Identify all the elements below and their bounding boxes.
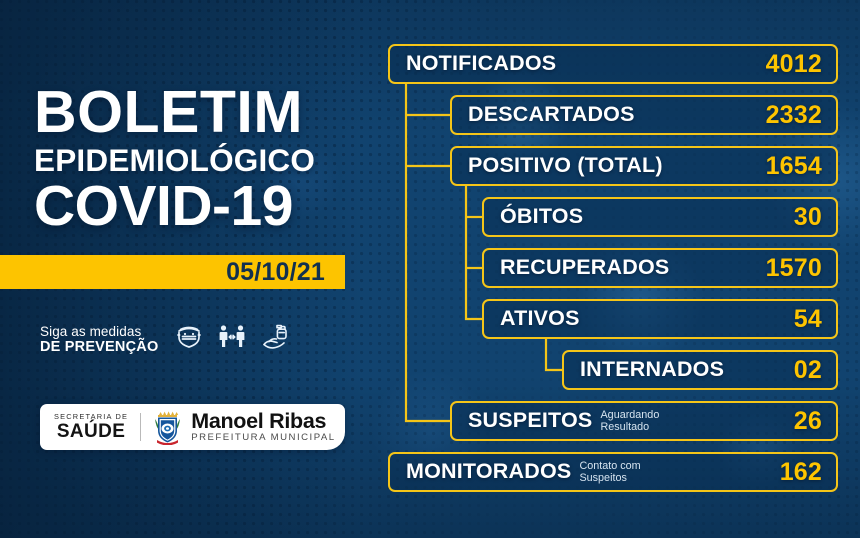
city-name: Manoel Ribas (191, 411, 335, 433)
title-covid19: COVID-19 (34, 178, 354, 235)
stat-value: 54 (794, 307, 822, 332)
stat-label: RECUPERADOS (500, 257, 669, 279)
stat-label: ATIVOS (500, 308, 580, 330)
logo-divider (140, 413, 141, 441)
stat-label: ÓBITOS (500, 206, 583, 228)
prevention-line2: DE PREVENÇÃO (40, 339, 158, 355)
stat-row-positivo-total: POSITIVO (TOTAL)1654 (450, 146, 838, 186)
poster-title-block: BOLETIM EPIDEMIOLÓGICO COVID-19 (34, 84, 354, 235)
stat-value: 4012 (766, 52, 822, 77)
stat-value: 2332 (766, 103, 822, 128)
stat-value: 02 (794, 358, 822, 383)
prevention-line1: Siga as medidas (40, 324, 158, 339)
city-logo-text: Manoel Ribas PREFEITURA MUNICIPAL (191, 411, 335, 443)
stat-value: 30 (794, 205, 822, 230)
stat-row-descartados: DESCARTADOS2332 (450, 95, 838, 135)
social-distancing-icon (215, 320, 249, 359)
face-mask-icon (172, 320, 206, 359)
secretaria-label: SECRETARIA DE (54, 413, 128, 420)
stat-label: SUSPEITOS (468, 410, 592, 432)
stat-row-internados: INTERNADOS02 (562, 350, 838, 390)
hand-sanitizer-icon (258, 320, 292, 359)
institutional-logo-bar: SECRETARIA DE SAÚDE (40, 404, 345, 450)
stat-label: DESCARTADOS (468, 104, 635, 126)
bulletin-date: 05/10/21 (226, 260, 345, 285)
stat-value: 1570 (766, 256, 822, 281)
saude-label: SAÚDE (54, 422, 128, 441)
stat-row-recuperados: RECUPERADOS1570 (482, 248, 838, 288)
coat-of-arms-icon (152, 409, 183, 445)
statistics-tree: NOTIFICADOS4012DESCARTADOS2332POSITIVO (… (380, 0, 860, 538)
stat-row-suspeitos: SUSPEITOSAguardandoResultado26 (450, 401, 838, 441)
left-panel: BOLETIM EPIDEMIOLÓGICO COVID-19 05/10/21… (0, 0, 380, 538)
prevention-text: Siga as medidas DE PREVENÇÃO (40, 324, 158, 355)
title-boletim: BOLETIM (34, 84, 354, 141)
city-subtitle: PREFEITURA MUNICIPAL (191, 433, 335, 443)
stat-sublabel: AguardandoResultado (600, 409, 659, 433)
title-epidemiologico: EPIDEMIOLÓGICO (34, 143, 354, 177)
stat-row-notificados: NOTIFICADOS4012 (388, 44, 838, 84)
stat-row-ativos: ATIVOS54 (482, 299, 838, 339)
prevention-section: Siga as medidas DE PREVENÇÃO (40, 320, 292, 359)
stat-row-obitos: ÓBITOS30 (482, 197, 838, 237)
stat-value: 1654 (766, 154, 822, 179)
stat-label: POSITIVO (TOTAL) (468, 155, 663, 177)
stat-label: MONITORADOS (406, 461, 571, 483)
stat-row-monitorados: MONITORADOSContato comSuspeitos162 (388, 452, 838, 492)
date-banner: 05/10/21 (0, 255, 345, 289)
stat-value: 26 (794, 409, 822, 434)
covid-bulletin-poster: BOLETIM EPIDEMIOLÓGICO COVID-19 05/10/21… (0, 0, 860, 538)
secretaria-saude-logo: SECRETARIA DE SAÚDE (40, 413, 140, 440)
stat-label: NOTIFICADOS (406, 53, 556, 75)
stat-label: INTERNADOS (580, 359, 724, 381)
stat-value: 162 (780, 460, 822, 485)
stat-sublabel: Contato comSuspeitos (579, 460, 640, 484)
prevention-icons (172, 320, 292, 359)
